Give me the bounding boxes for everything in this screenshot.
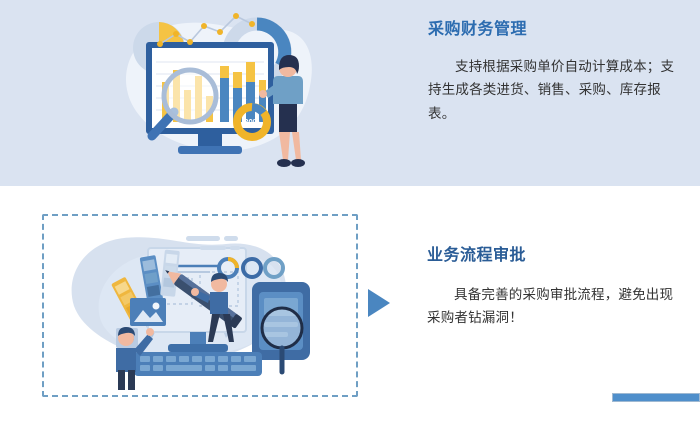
keyboard <box>134 352 262 376</box>
section-1-title: 采购财务管理 <box>428 20 678 39</box>
section-2-title: 业务流程审批 <box>427 246 682 265</box>
donut-label: 30% <box>244 118 260 127</box>
section-1-text: 采购财务管理 支持根据采购单价自动计算成本；支持生成各类进货、销售、采购、库存报… <box>428 20 678 125</box>
data-analytics-illustration: 30% <box>112 4 317 176</box>
magnifier-glass <box>262 308 302 372</box>
image-card <box>130 298 166 326</box>
section-2-text: 业务流程审批 具备完善的采购审批流程，避免出现采购者钻漏洞！ <box>427 246 682 330</box>
section-2-body: 具备完善的采购审批流程，避免出现采购者钻漏洞！ <box>427 283 682 329</box>
accent-bar <box>612 393 700 402</box>
section-1-body: 支持根据采购单价自动计算成本；支持生成各类进货、销售、采购、库存报表。 <box>428 55 678 125</box>
design-workflow-illustration <box>60 222 350 390</box>
page-root: 30% <box>0 0 700 426</box>
play-arrow-icon <box>368 289 390 317</box>
